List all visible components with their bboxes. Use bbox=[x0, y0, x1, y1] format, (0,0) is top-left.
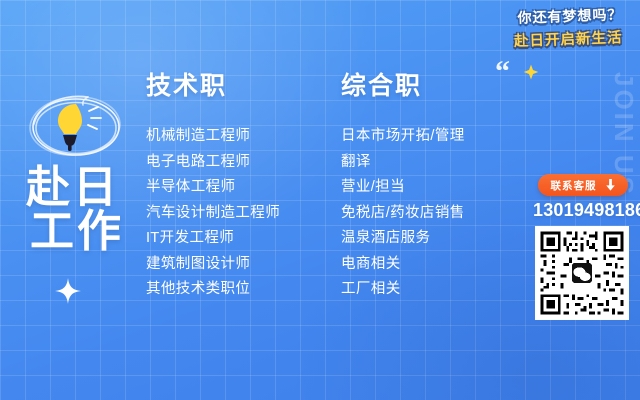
contact-support-button[interactable]: 联系客服 bbox=[538, 174, 628, 196]
star-icon bbox=[523, 64, 539, 80]
qr-code-icon[interactable] bbox=[535, 226, 629, 320]
slogan-block: 你还有梦想吗？ 赴日开启新生活 bbox=[514, 6, 623, 50]
slogan-line-1: 你还有梦想吗？ bbox=[513, 4, 622, 28]
list-item[interactable]: 营业/担当 bbox=[341, 175, 465, 201]
page-title-line-1: 赴日 bbox=[26, 166, 124, 210]
column-general-title: 综合职 bbox=[341, 66, 465, 102]
lightbulb-icon bbox=[26, 84, 126, 168]
list-item[interactable]: 电商相关 bbox=[341, 252, 465, 278]
page-title-line-2: 工作 bbox=[26, 210, 124, 254]
poster-canvas: JOIN US 你还有梦想吗？ 赴日开启新生活 “ 赴日 工作 bbox=[0, 0, 640, 400]
list-item[interactable]: IT开发工程师 bbox=[146, 226, 280, 252]
list-item[interactable]: 机械制造工程师 bbox=[146, 124, 280, 150]
list-item[interactable]: 电子电路工程师 bbox=[146, 150, 280, 176]
arrow-down-icon bbox=[605, 179, 616, 191]
page-title: 赴日 工作 bbox=[26, 166, 124, 254]
quote-mark-icon: “ bbox=[495, 57, 510, 87]
column-general-list: 日本市场开拓/管理 翻译 营业/担当 免税店/药妆店销售 温泉酒店服务 电商相关… bbox=[341, 124, 465, 303]
column-technical-list: 机械制造工程师 电子电路工程师 半导体工程师 汽车设计制造工程师 IT开发工程师… bbox=[146, 124, 280, 303]
list-item[interactable]: 温泉酒店服务 bbox=[341, 226, 465, 252]
column-technical-title: 技术职 bbox=[146, 66, 280, 102]
list-item[interactable]: 翻译 bbox=[341, 150, 465, 176]
list-item[interactable]: 日本市场开拓/管理 bbox=[341, 124, 465, 150]
sparkle-icon bbox=[55, 278, 81, 304]
list-item[interactable]: 建筑制图设计师 bbox=[146, 252, 280, 278]
list-item[interactable]: 汽车设计制造工程师 bbox=[146, 201, 280, 227]
contact-support-label: 联系客服 bbox=[551, 178, 597, 193]
column-technical: 技术职 机械制造工程师 电子电路工程师 半导体工程师 汽车设计制造工程师 IT开… bbox=[146, 66, 280, 303]
list-item[interactable]: 半导体工程师 bbox=[146, 175, 280, 201]
list-item[interactable]: 工厂相关 bbox=[341, 277, 465, 303]
list-item[interactable]: 免税店/药妆店销售 bbox=[341, 201, 465, 227]
contact-phone-number[interactable]: 13019498186 bbox=[533, 200, 633, 221]
slogan-line-2: 赴日开启新生活 bbox=[513, 28, 622, 52]
column-general: 综合职 日本市场开拓/管理 翻译 营业/担当 免税店/药妆店销售 温泉酒店服务 … bbox=[341, 66, 465, 303]
list-item[interactable]: 其他技术类职位 bbox=[146, 277, 280, 303]
